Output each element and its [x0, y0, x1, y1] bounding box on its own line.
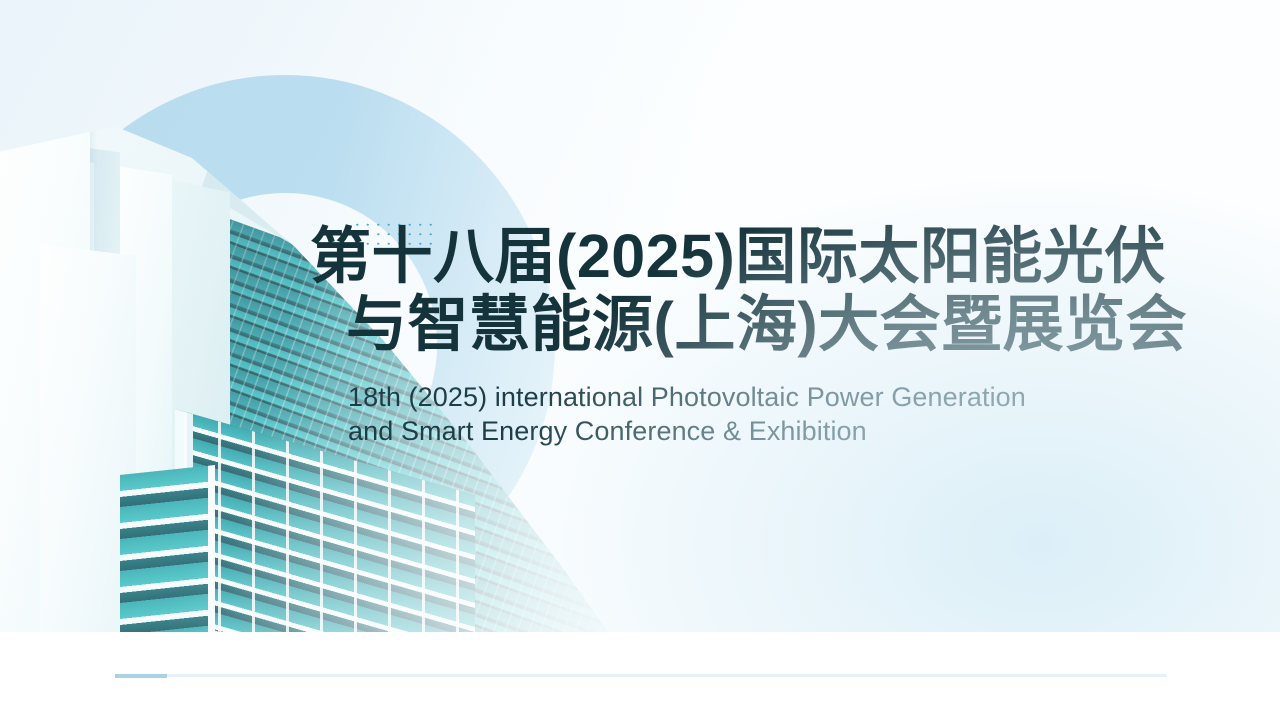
page-title-line-1: 第十八届(2025)国际太阳能光伏: [310, 222, 1190, 290]
conference-banner: 第十八届(2025)国际太阳能光伏 与智慧能源(上海)大会暨展览会 18th (…: [0, 0, 1280, 720]
bottom-divider: [0, 672, 1280, 679]
page-subtitle: 18th (2025) international Photovoltaic P…: [310, 380, 1190, 448]
banner-text-block: 第十八届(2025)国际太阳能光伏 与智慧能源(上海)大会暨展览会 18th (…: [310, 222, 1190, 448]
divider-accent-segment: [115, 674, 167, 678]
page-subtitle-line-1: 18th (2025) international Photovoltaic P…: [348, 380, 1190, 414]
foreground-glass-side: [120, 465, 215, 632]
page-title-line-2: 与智慧能源(上海)大会暨展览会: [310, 290, 1190, 358]
page-subtitle-line-2: and Smart Energy Conference & Exhibition: [348, 414, 1190, 448]
banner-stage: 第十八届(2025)国际太阳能光伏 与智慧能源(上海)大会暨展览会 18th (…: [0, 0, 1280, 632]
divider-light-segment: [115, 674, 1167, 677]
